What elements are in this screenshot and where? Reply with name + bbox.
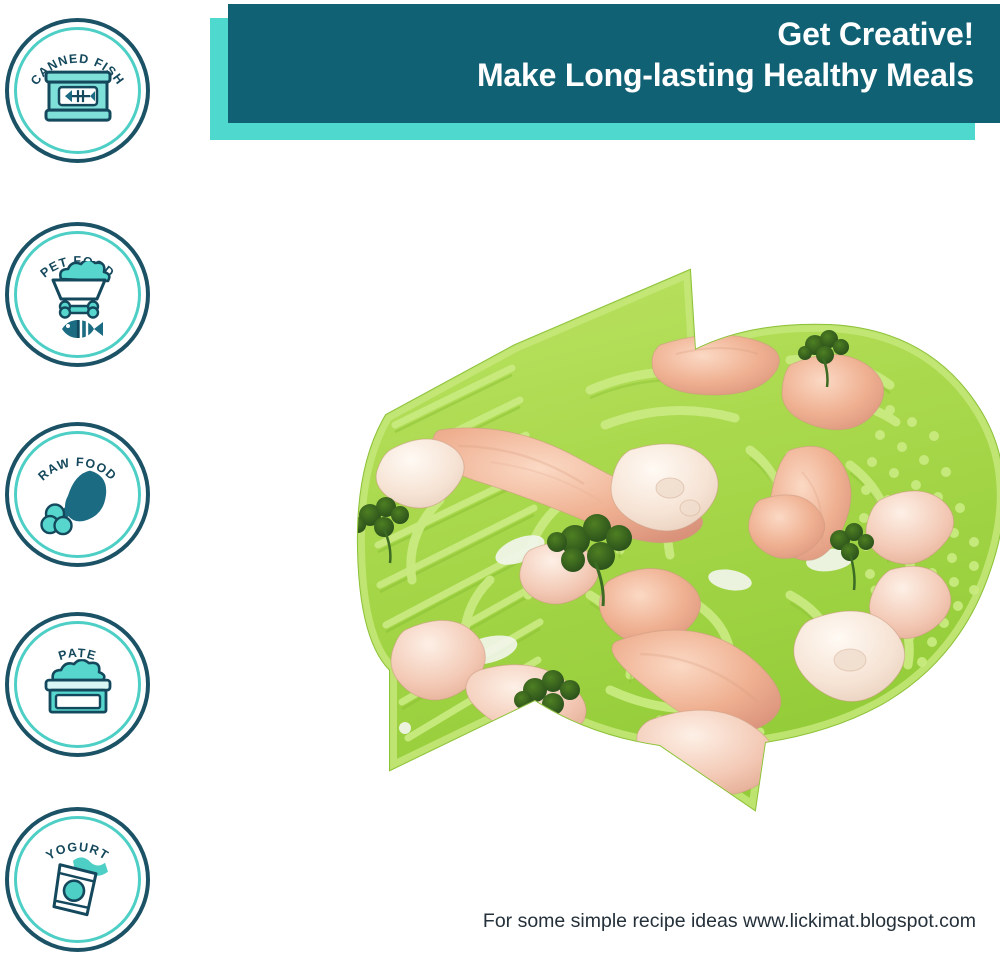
fish-skeleton-shape [62,319,103,339]
badge-canned-fish: CANNED FISH [5,18,150,163]
header-banner: Get Creative! Make Long-lasting Healthy … [0,0,1000,160]
badge-pet-food: PET FOOD [5,222,150,367]
badge-pate: PATE [5,612,150,757]
infographic-page: Get Creative! Make Long-lasting Healthy … [0,0,1000,955]
product-photo [190,250,1000,870]
banner-subheadline: Make Long-lasting Healthy Meals [477,54,974,96]
banner-text-block: Get Creative! Make Long-lasting Healthy … [477,14,974,96]
fish-lick-mat-illustration [190,250,1000,870]
banner-headline: Get Creative! [477,14,974,54]
drumstick-icon [38,465,118,537]
footer-recipe-link: For some simple recipe ideas www.lickima… [0,910,976,933]
pate-tub-icon [35,659,121,721]
bone-shape [60,302,98,318]
canned-fish-icon [35,65,121,127]
badge-raw-food: RAW FOOD [5,422,150,567]
pet-food-bowl-icon [35,261,121,341]
